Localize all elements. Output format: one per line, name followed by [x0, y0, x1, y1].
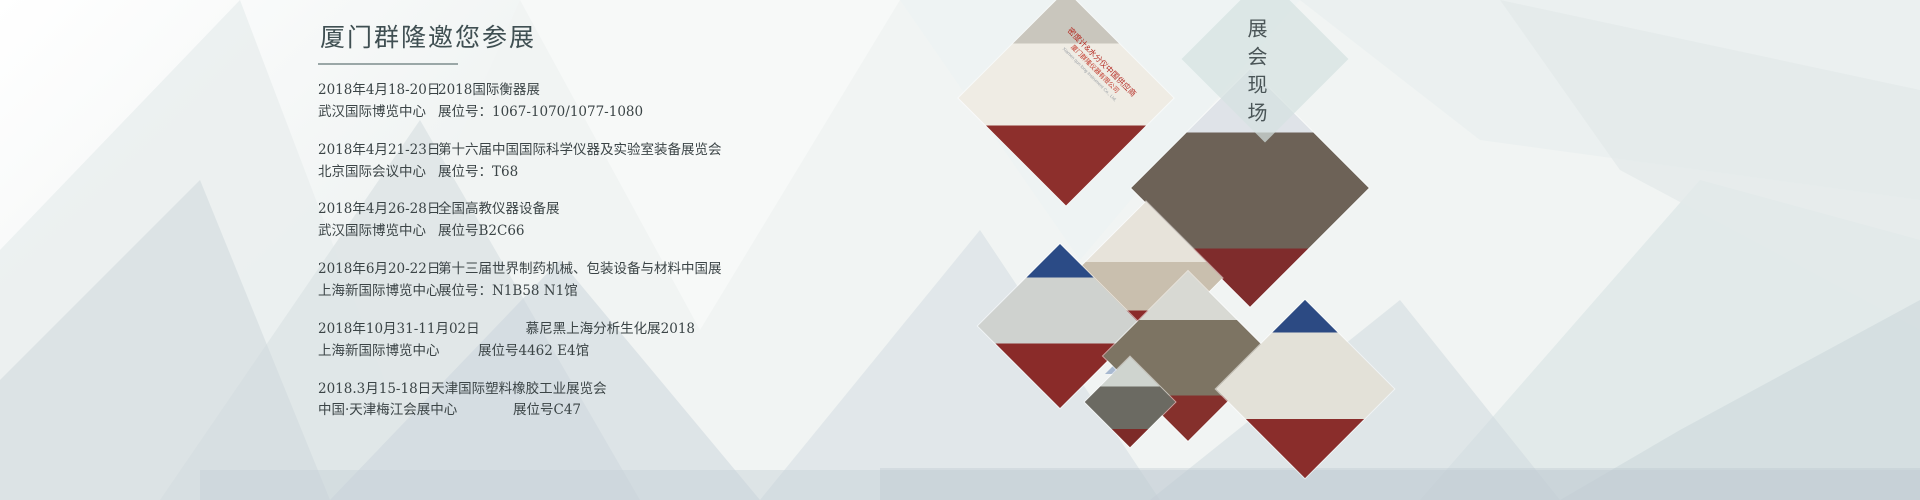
event-date: 2018.3月15-18日天津国际塑料橡胶工业展览会: [318, 379, 607, 401]
event-item: 2018年4月26-28日 全国高教仪器设备展 武汉国际博览中心 展位号B2C6…: [318, 199, 1078, 243]
event-row-primary: 2018年4月21-23日 第十六届中国国际科学仪器及实验室装备展览会: [318, 140, 1078, 162]
event-date: 2018年4月21-23日: [318, 140, 438, 162]
event-name: 2018国际衡器展: [438, 80, 540, 102]
event-date: 2018年4月18-20日: [318, 80, 438, 102]
event-name: 第十六届中国国际科学仪器及实验室装备展览会: [438, 140, 722, 162]
event-row-primary: 2018年4月26-28日 全国高教仪器设备展: [318, 199, 1078, 221]
event-booth: 展位号：T68: [438, 162, 518, 184]
event-row-primary: 2018年6月20-22日 第十三届世界制药机械、包装设备与材料中国展: [318, 259, 1078, 281]
event-name: 全国高教仪器设备展: [438, 199, 560, 221]
event-date: 2018年6月20-22日: [318, 259, 438, 281]
event-item: 2018年10月31-11月02日 慕尼黑上海分析生化展2018 上海新国际博览…: [318, 319, 1078, 363]
exhibition-info-panel: 厦门群隆邀您参展 2018年4月18-20日 2018国际衡器展 武汉国际博览中…: [318, 18, 1078, 488]
title-divider: [318, 63, 458, 65]
event-venue: 武汉国际博览中心: [318, 102, 438, 124]
event-row-primary: 2018年4月18-20日 2018国际衡器展: [318, 80, 1078, 102]
event-venue: 武汉国际博览中心: [318, 221, 438, 243]
event-booth: 展位号C47: [513, 400, 581, 422]
page-title: 厦门群隆邀您参展: [318, 18, 1078, 54]
event-row-secondary: 武汉国际博览中心 展位号B2C66: [318, 221, 1078, 243]
event-row-secondary: 武汉国际博览中心 展位号：1067-1070/1077-1080: [318, 102, 1078, 124]
event-venue: 北京国际会议中心: [318, 162, 438, 184]
event-row-primary: 2018年10月31-11月02日 慕尼黑上海分析生化展2018: [318, 319, 1078, 341]
event-item: 2018年4月21-23日 第十六届中国国际科学仪器及实验室装备展览会 北京国际…: [318, 140, 1078, 184]
event-row-secondary: 上海新国际博览中心 展位号4462 E4馆: [318, 341, 1078, 363]
event-booth: 展位号：1067-1070/1077-1080: [438, 102, 643, 124]
event-row-primary: 2018.3月15-18日天津国际塑料橡胶工业展览会: [318, 379, 1078, 401]
event-name: 慕尼黑上海分析生化展2018: [526, 319, 695, 341]
event-date: 2018年10月31-11月02日: [318, 319, 480, 341]
event-row-secondary: 北京国际会议中心 展位号：T68: [318, 162, 1078, 184]
event-item: 2018年4月18-20日 2018国际衡器展 武汉国际博览中心 展位号：106…: [318, 80, 1078, 124]
event-booth: 展位号4462 E4馆: [478, 341, 589, 363]
collage-caption: 展会现场: [1242, 18, 1271, 130]
event-name: 第十三届世界制药机械、包装设备与材料中国展: [438, 259, 722, 281]
event-venue: 上海新国际博览中心: [318, 341, 478, 363]
event-item: 2018.3月15-18日天津国际塑料橡胶工业展览会 中国·天津梅江会展中心 展…: [318, 379, 1078, 423]
event-row-secondary: 中国·天津梅江会展中心 展位号C47: [318, 400, 1078, 422]
event-row-secondary: 上海新国际博览中心 展位号：N1B58 N1馆: [318, 281, 1078, 303]
event-booth: 展位号B2C66: [438, 221, 525, 243]
event-item: 2018年6月20-22日 第十三届世界制药机械、包装设备与材料中国展 上海新国…: [318, 259, 1078, 303]
event-venue: 中国·天津梅江会展中心: [318, 400, 513, 422]
event-booth: 展位号：N1B58 N1馆: [438, 281, 578, 303]
event-venue: 上海新国际博览中心: [318, 281, 438, 303]
event-date: 2018年4月26-28日: [318, 199, 438, 221]
